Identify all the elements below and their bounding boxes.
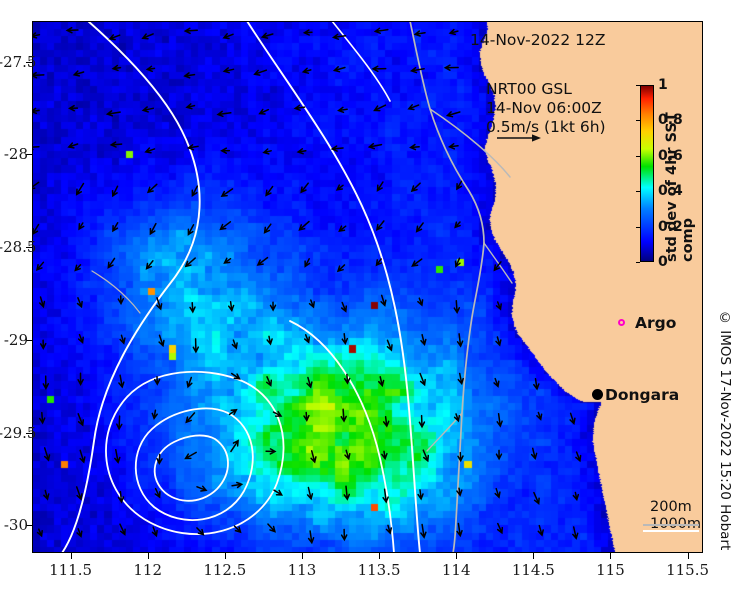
velocity-arrow: [342, 334, 347, 344]
x-axis-tick-label: 113.5: [358, 561, 401, 579]
velocity-arrow: [496, 337, 501, 345]
argo-legend-label: Argo: [635, 314, 676, 332]
velocity-arrow: [113, 66, 120, 71]
colorbar-tick: [636, 156, 640, 157]
velocity-arrow: [188, 225, 193, 235]
velocity-arrow: [224, 34, 233, 39]
depth-contour-200m: [484, 243, 512, 283]
velocity-arrow: [387, 340, 392, 350]
velocity-arrow: [334, 67, 345, 72]
velocity-arrow: [222, 189, 233, 196]
colorbar-tick: [636, 120, 640, 121]
velocity-arrow: [74, 71, 83, 76]
velocity-arrow: [494, 379, 499, 387]
velocity-arrow: [450, 144, 459, 149]
velocity-arrow: [193, 339, 198, 352]
velocity-arrow: [79, 223, 84, 229]
velocity-arrow: [342, 303, 347, 312]
x-axis-tick-label: 112: [133, 561, 162, 579]
credit-label: © IMOS 17-Nov-2022 15:20 Hobart: [717, 310, 733, 550]
velocity-arrow: [225, 258, 231, 263]
velocity-arrow: [274, 490, 282, 495]
velocity-arrow: [187, 104, 195, 109]
dongara-city-label: Dongara: [605, 386, 679, 404]
velocity-arrow: [456, 258, 461, 266]
velocity-arrow: [262, 33, 272, 38]
velocity-arrow: [381, 295, 386, 305]
x-axis-tick-label: 114: [442, 561, 471, 579]
velocity-arrow: [77, 529, 82, 537]
velocity-arrow: [375, 28, 388, 33]
colorbar-gradient: [640, 85, 654, 262]
overlay-product-label: NRT00 GSL: [486, 80, 606, 99]
velocity-arrow: [387, 525, 392, 533]
velocity-arrow: [298, 149, 306, 154]
velocity-arrow: [455, 222, 460, 227]
velocity-arrow: [232, 340, 237, 348]
depth-contour-1000m-ring: [155, 435, 228, 500]
velocity-arrow: [221, 222, 231, 230]
velocity-arrow: [155, 489, 160, 497]
velocity-arrow: [231, 441, 238, 452]
velocity-arrow: [119, 375, 124, 387]
velocity-arrow: [117, 416, 122, 429]
velocity-arrow: [339, 226, 345, 231]
depth-contour-200m: [410, 21, 484, 243]
y-axis-tick-label: -29.5: [0, 424, 28, 442]
velocity-arrow: [147, 261, 153, 269]
velocity-arrow: [423, 450, 428, 461]
velocity-arrow: [308, 488, 313, 499]
x-axis-tick: [225, 553, 226, 559]
velocity-arrow: [457, 524, 462, 536]
velocity-arrow: [301, 183, 308, 192]
velocity-arrow: [67, 28, 78, 33]
velocity-arrow: [265, 224, 271, 232]
velocity-arrow: [369, 144, 381, 149]
velocity-arrow: [33, 225, 39, 234]
velocity-arrow: [40, 413, 45, 423]
velocity-arrow: [120, 524, 125, 534]
velocity-arrow: [497, 414, 502, 426]
overlay-valid-time-label: 14-Nov 06:00Z: [486, 99, 606, 118]
colorbar-title: std dev of 4hr SST comp: [664, 85, 696, 262]
velocity-arrow: [235, 526, 241, 532]
velocity-arrow: [69, 143, 78, 148]
velocity-arrow: [534, 379, 539, 389]
velocity-arrow: [113, 223, 118, 231]
velocity-arrow: [497, 302, 502, 309]
velocity-arrow: [143, 34, 153, 39]
x-axis-tick-label: 113: [288, 561, 317, 579]
velocity-arrow: [190, 303, 195, 312]
velocity-arrow: [570, 413, 575, 423]
velocity-arrow: [412, 68, 425, 73]
velocity-arrow: [79, 335, 84, 343]
velocity-arrow: [377, 259, 382, 265]
velocity-arrow: [148, 184, 157, 192]
velocity-arrow: [115, 450, 120, 463]
velocity-arrow: [445, 65, 458, 70]
velocity-arrow: [495, 489, 500, 498]
x-axis-tick: [148, 553, 149, 559]
velocity-arrow: [344, 486, 349, 499]
velocity-arrow: [375, 105, 386, 110]
x-axis-tick-label: 112.5: [203, 561, 246, 579]
velocity-arrow: [264, 149, 271, 154]
velocity-arrow: [409, 105, 419, 110]
x-axis-tick-label: 115.5: [666, 561, 709, 579]
velocity-arrow: [258, 258, 268, 265]
depth-contour-1000m: [332, 21, 390, 101]
velocity-arrow: [260, 109, 269, 114]
velocity-arrow: [338, 265, 345, 271]
velocity-arrow: [411, 145, 420, 150]
x-axis-tick: [456, 553, 457, 559]
velocity-arrow: [32, 73, 44, 78]
velocity-arrow: [418, 298, 423, 305]
velocity-arrow: [187, 378, 192, 387]
velocity-arrow: [157, 454, 162, 463]
velocity-arrow: [77, 184, 84, 195]
x-axis-tick-label: 111.5: [49, 561, 92, 579]
velocity-arrow: [110, 35, 120, 40]
velocity-arrow: [457, 181, 462, 189]
velocity-arrow: [384, 417, 389, 426]
velocity-arrow: [274, 412, 282, 416]
velocity-arrow: [266, 449, 275, 454]
velocity-arrow: [78, 414, 83, 425]
velocity-arrow: [345, 374, 350, 383]
velocity-arrow: [32, 182, 39, 188]
velocity-arrow: [417, 223, 423, 232]
velocity-arrow: [339, 107, 348, 112]
velocity-arrow: [108, 258, 114, 267]
velocity-arrow: [45, 448, 50, 460]
velocity-arrow: [222, 148, 230, 153]
velocity-arrow: [32, 108, 39, 113]
y-axis-tick-label: -29: [0, 331, 28, 349]
velocity-arrow: [37, 262, 43, 270]
velocity-arrow: [412, 183, 420, 191]
timestamp-label: 14-Nov-2022 12Z: [470, 31, 605, 49]
depth-contour-1000m-ring: [136, 408, 253, 520]
velocity-arrow: [345, 450, 350, 459]
velocity-arrow: [41, 340, 46, 348]
velocity-arrow: [192, 186, 197, 195]
velocity-arrow: [303, 68, 311, 73]
velocity-arrow: [80, 450, 85, 462]
depth-contour-200m: [453, 243, 484, 553]
colorbar-tick: [636, 85, 640, 86]
velocity-arrow: [271, 302, 276, 310]
velocity-arrow: [185, 28, 197, 33]
velocity-arrow: [197, 486, 206, 491]
velocity-arrow: [44, 491, 49, 500]
velocity-arrow: [309, 531, 314, 543]
depth-200m-label: 200m: [650, 499, 701, 516]
current-overlay-info: NRT00 GSL 14-Nov 06:00Z 0.5m/s (1kt 6h): [486, 80, 606, 137]
velocity-arrow: [573, 493, 578, 500]
velocity-arrow: [421, 335, 426, 345]
y-axis-tick-label: -27.5: [0, 53, 28, 71]
velocity-arrow: [573, 527, 578, 538]
depth-contour-200m: [92, 271, 140, 313]
velocity-arrow: [305, 259, 310, 267]
x-axis-tick: [302, 553, 303, 559]
velocity-arrow: [311, 451, 316, 462]
x-axis-tick: [379, 553, 380, 559]
depth-1000m-line-swatch: [643, 530, 699, 532]
right-arrow-icon: [496, 132, 542, 144]
velocity-arrow: [143, 107, 153, 112]
y-axis-tick-label: -30: [0, 516, 28, 534]
x-axis-tick: [688, 553, 689, 559]
velocity-arrow: [230, 410, 237, 415]
velocity-arrow: [304, 413, 309, 421]
velocity-arrow: [188, 145, 198, 150]
velocity-arrow: [218, 111, 231, 116]
depth-contour-key: 200m 1000m: [650, 499, 701, 533]
y-axis-tick-label: -28.5: [0, 238, 28, 256]
velocity-arrow: [305, 335, 310, 343]
sst-map-figure: 14-Nov-2022 12Z NRT00 GSL 14-Nov 06:00Z …: [0, 0, 740, 592]
velocity-arrow: [107, 111, 120, 116]
depth-contour-1000m: [290, 321, 394, 553]
velocity-arrow: [152, 410, 157, 418]
velocity-arrow: [229, 302, 234, 311]
velocity-arrow: [304, 30, 312, 35]
velocity-arrow: [150, 224, 156, 234]
velocity-arrow: [537, 413, 542, 420]
velocity-arrow: [40, 297, 45, 307]
velocity-arrow: [310, 300, 315, 307]
dongara-marker-icon: [592, 389, 603, 400]
velocity-arrow: [532, 448, 537, 458]
velocity-arrow: [159, 335, 164, 345]
velocity-arrow: [147, 66, 154, 71]
velocity-arrow: [197, 528, 204, 535]
velocity-arrow: [337, 185, 343, 190]
velocity-arrow: [458, 334, 463, 346]
velocity-arrow: [421, 525, 426, 538]
velocity-arrow: [185, 73, 195, 78]
velocity-arrow: [267, 377, 272, 386]
velocity-arrow: [268, 524, 275, 532]
velocity-arrow: [267, 336, 272, 344]
velocity-arrow: [458, 374, 463, 384]
colorbar-tick: [636, 191, 640, 192]
velocity-arrow: [111, 142, 121, 147]
velocity-arrow: [341, 409, 346, 421]
velocity-arrow: [255, 70, 267, 75]
colorbar-tick: [636, 262, 640, 263]
velocity-arrow: [32, 33, 39, 38]
velocity-arrow: [146, 148, 155, 153]
velocity-arrow: [332, 146, 343, 151]
argo-marker-icon: [618, 319, 625, 326]
x-axis-tick-label: 115: [596, 561, 625, 579]
velocity-arrow: [534, 493, 539, 504]
x-axis-tick: [71, 553, 72, 559]
velocity-arrow: [412, 259, 421, 266]
y-axis-tick-label: -28: [0, 145, 28, 163]
velocity-arrow: [419, 416, 424, 427]
depth-contour-1000m: [247, 21, 420, 553]
velocity-arrow: [77, 487, 82, 499]
velocity-arrow: [78, 298, 83, 307]
velocity-arrow: [538, 526, 543, 536]
velocity-arrow: [120, 335, 125, 343]
depth-contour-1000m: [62, 21, 200, 553]
velocity-arrow: [415, 31, 425, 36]
velocity-arrow: [377, 221, 384, 230]
velocity-arrow: [70, 106, 78, 111]
velocity-arrow: [418, 490, 423, 499]
velocity-arrow: [43, 376, 48, 388]
x-axis-tick: [533, 553, 534, 559]
velocity-arrow: [454, 301, 459, 313]
velocity-arrow: [75, 265, 80, 271]
velocity-arrow: [38, 529, 43, 536]
velocity-arrow: [420, 374, 425, 385]
velocity-arrow: [497, 450, 502, 458]
x-axis-tick-label: 114.5: [512, 561, 555, 579]
velocity-arrow: [232, 483, 242, 488]
velocity-arrow: [224, 68, 233, 73]
velocity-arrow: [32, 145, 39, 150]
velocity-arrow: [379, 377, 384, 386]
velocity-arrow: [119, 492, 124, 502]
velocity-arrow: [266, 187, 273, 196]
velocity-arrow: [576, 452, 581, 461]
velocity-arrow: [153, 527, 158, 536]
velocity-arrow: [78, 373, 83, 384]
velocity-arrow: [300, 222, 310, 230]
velocity-arrow: [186, 452, 197, 458]
velocity-arrow: [447, 112, 459, 117]
velocity-arrow: [450, 30, 458, 35]
velocity-arrow: [118, 296, 123, 304]
velocity-arrow: [373, 66, 386, 71]
velocity-arrow: [186, 413, 194, 422]
colorbar-tick: [636, 227, 640, 228]
velocity-arrow: [378, 182, 383, 191]
velocity-arrow: [382, 451, 387, 458]
velocity-arrow: [307, 378, 312, 388]
depth-200m-line-swatch: [643, 524, 699, 526]
velocity-arrow: [342, 530, 347, 540]
velocity-arrow: [498, 524, 503, 533]
x-axis-tick: [610, 553, 611, 559]
velocity-arrow: [186, 258, 195, 266]
velocity-arrow: [113, 186, 118, 196]
